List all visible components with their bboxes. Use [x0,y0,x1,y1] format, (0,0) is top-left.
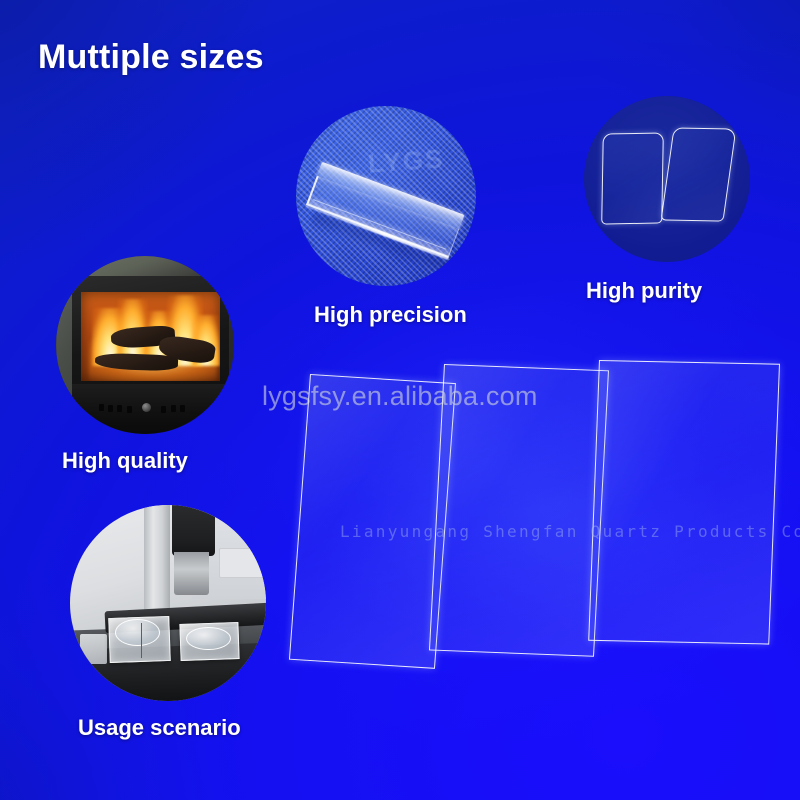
stove-base-panel [72,384,229,434]
watermark-company-name: Lianyungang Shengfan Quartz Products Co.… [340,522,800,541]
stove-vent [161,406,166,413]
stove-vent [117,405,122,412]
page-title: Muttiple sizes [38,38,264,77]
stage-clip [80,634,107,663]
clear-plate-right [661,127,737,221]
quartz-sheet-right [588,360,780,644]
feature-high-quality: High quality [56,256,234,434]
faint-watermark: LYGS [367,143,445,179]
stove-vent [108,405,113,412]
stove-glass-window [81,292,220,381]
feature-high-purity: High purity [584,96,750,262]
caption-high-quality: High quality [62,448,188,474]
glass-dish-left [115,619,160,646]
watermark-url: lygsfsy.en.alibaba.com [262,381,538,412]
stove-vent [180,405,185,412]
caption-usage-scenario: Usage scenario [78,715,241,741]
stove-vent [171,405,176,412]
stove-knob [142,403,151,412]
feature-usage-scenario: Usage scenario [70,505,266,701]
caption-high-precision: High precision [314,302,467,328]
stove-vent [99,404,104,411]
usage-photo [70,505,266,701]
purity-photo [584,96,750,262]
stove-vent [127,406,132,413]
quality-photo [56,256,234,434]
measurement-marker [141,623,142,658]
precision-photo: LYGS [296,106,476,286]
product-banner: Muttiple sizes LYGS High precision [0,0,800,800]
glass-dish-right [186,627,231,651]
feature-high-precision: LYGS High precision [296,106,476,286]
instrument-column [144,505,169,619]
instrument-lens [174,552,209,595]
instrument-head [172,505,215,556]
clear-plate-left [601,132,664,224]
wall-socket [219,548,264,577]
caption-high-purity: High purity [586,278,702,304]
sheet-sheen [589,361,779,643]
